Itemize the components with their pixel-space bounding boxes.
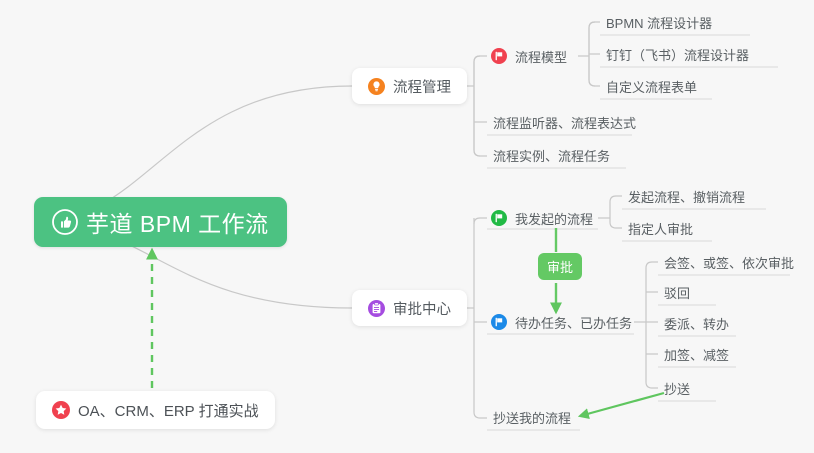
node-label-todo-done-tasks: 待办任务、已办任务 bbox=[515, 313, 632, 332]
edge-spzx-to-cc bbox=[474, 412, 487, 418]
edge-mine-to-assign bbox=[610, 222, 622, 228]
relation-arrow-chaosong bbox=[580, 393, 664, 416]
node-process-instance[interactable]: 流程实例、流程任务 bbox=[487, 141, 616, 169]
edge-mine-to-start bbox=[610, 196, 622, 202]
edge-model-to-bpmn bbox=[589, 22, 600, 28]
node-label-bpmn-designer: BPMN 流程设计器 bbox=[606, 13, 712, 32]
node-label-custom-form: 自定义流程表单 bbox=[606, 77, 697, 96]
node-cc-to-me[interactable]: 抄送我的流程 bbox=[487, 403, 577, 431]
edge-model-to-form bbox=[589, 80, 600, 86]
branch-node-approval-center[interactable]: 审批中心 bbox=[352, 290, 467, 326]
node-bpmn-designer[interactable]: BPMN 流程设计器 bbox=[600, 8, 718, 36]
node-label-add-remove-sign: 加签、减签 bbox=[664, 345, 729, 364]
node-label-reject: 驳回 bbox=[664, 283, 690, 302]
flag-icon bbox=[491, 210, 507, 226]
relation-label-approval[interactable]: 审批 bbox=[538, 253, 582, 280]
edge-lcgl-spine bbox=[474, 56, 480, 156]
node-label-process-instance: 流程实例、流程任务 bbox=[493, 146, 610, 165]
node-dingtalk-designer[interactable]: 钉钉（飞书）流程设计器 bbox=[600, 40, 755, 68]
flag-icon bbox=[491, 48, 507, 64]
node-reject[interactable]: 驳回 bbox=[658, 278, 696, 306]
edge-lcgl-to-model bbox=[474, 56, 487, 62]
thumbs-up-icon bbox=[52, 209, 78, 235]
node-label-process-listener: 流程监听器、流程表达式 bbox=[493, 113, 636, 132]
node-label-cc: 抄送 bbox=[664, 379, 690, 398]
node-process-listener[interactable]: 流程监听器、流程表达式 bbox=[487, 108, 642, 136]
node-label-start-cancel-process: 发起流程、撤销流程 bbox=[628, 187, 745, 206]
branch-label-process-management: 流程管理 bbox=[393, 76, 451, 97]
edge-spzx-to-mine bbox=[474, 218, 487, 224]
node-custom-form[interactable]: 自定义流程表单 bbox=[600, 72, 703, 100]
node-label-countersign: 会签、或签、依次审批 bbox=[664, 253, 794, 272]
note-label-integration: OA、CRM、ERP 打通实战 bbox=[78, 400, 259, 421]
node-delegate-transfer[interactable]: 委派、转办 bbox=[658, 309, 735, 337]
node-my-initiated-processes[interactable]: 我发起的流程 bbox=[487, 204, 599, 232]
node-label-delegate-transfer: 委派、转办 bbox=[664, 314, 729, 333]
node-label-assignee-approval: 指定人审批 bbox=[628, 219, 693, 238]
edge-lcgl-to-instance bbox=[474, 150, 487, 156]
branch-node-process-management[interactable]: 流程管理 bbox=[352, 68, 467, 104]
node-label-cc-to-me: 抄送我的流程 bbox=[493, 408, 571, 427]
flag-icon bbox=[491, 314, 507, 330]
node-label-my-initiated-processes: 我发起的流程 bbox=[515, 209, 593, 228]
relation-label-approval-text: 审批 bbox=[547, 257, 573, 276]
node-cc[interactable]: 抄送 bbox=[658, 374, 696, 402]
node-add-remove-sign[interactable]: 加签、减签 bbox=[658, 340, 735, 368]
star-icon bbox=[52, 401, 70, 419]
mindmap-canvas: 芋道 BPM 工作流 流程管理 流程模型 BPMN 流程设计器 钉钉（飞书）流程 bbox=[0, 0, 814, 453]
edge-tasks-to-chaosong bbox=[646, 382, 658, 388]
branch-label-approval-center: 审批中心 bbox=[393, 298, 451, 319]
node-todo-done-tasks[interactable]: 待办任务、已办任务 bbox=[487, 308, 638, 336]
lightbulb-icon bbox=[368, 78, 385, 95]
edge-tasks-to-huiqian bbox=[646, 262, 658, 268]
root-label: 芋道 BPM 工作流 bbox=[86, 205, 269, 239]
node-start-cancel-process[interactable]: 发起流程、撤销流程 bbox=[622, 182, 751, 210]
node-label-dingtalk-designer: 钉钉（飞书）流程设计器 bbox=[606, 45, 749, 64]
note-node-integration[interactable]: OA、CRM、ERP 打通实战 bbox=[36, 391, 275, 429]
node-process-model[interactable]: 流程模型 bbox=[487, 42, 573, 70]
node-assignee-approval[interactable]: 指定人审批 bbox=[622, 214, 699, 242]
root-node[interactable]: 芋道 BPM 工作流 bbox=[34, 197, 287, 247]
node-label-process-model: 流程模型 bbox=[515, 47, 567, 66]
clipboard-icon bbox=[368, 300, 385, 317]
node-countersign[interactable]: 会签、或签、依次审批 bbox=[658, 248, 800, 276]
